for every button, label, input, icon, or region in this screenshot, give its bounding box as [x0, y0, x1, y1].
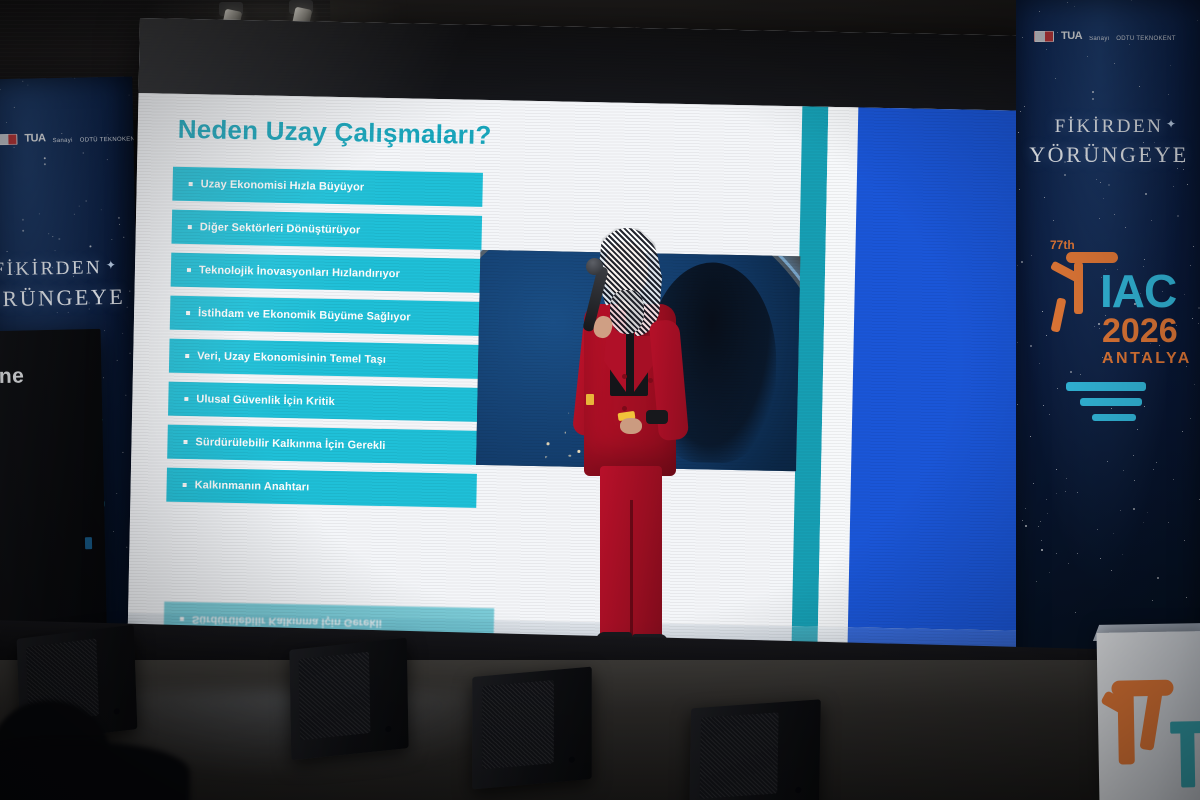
display-pedestal: [1097, 631, 1200, 800]
trouser-seam: [630, 500, 633, 642]
slide-bullet-item: Sürdürülebilir Kalkınma İçin Gerekli: [167, 425, 478, 465]
presenter-headscarf-drape: [610, 290, 644, 334]
podium: one: [0, 329, 107, 661]
slide-bullet-text: Kalkınmanın Anahtarı: [195, 479, 310, 493]
sponsor-logo-row: TUA Sanayi ODTÜ TEKNOKENT: [1034, 30, 1176, 42]
slide-bullet-item: Teknolojik İnovasyonları Hızlandırıyor: [171, 253, 482, 293]
slide-bullet-text: Uzay Ekonomisi Hızla Büyüyor: [201, 178, 365, 193]
slide-bullet-text: Ulusal Güvenlik İçin Kritik: [196, 393, 335, 408]
slide-title: Neden Uzay Çalışmaları?: [177, 114, 491, 151]
stage-scene: TUA Sanayi ODTÜ TEKNOKENT FİKİRDEN YÖRÜN…: [0, 0, 1200, 800]
slide-bullet-text: Diğer Sektörleri Dönüştürüyor: [200, 221, 361, 236]
iac-underline-icon: [1066, 382, 1146, 391]
iac-city-label: ANTALYA: [1102, 352, 1192, 367]
jacket-button: [648, 378, 653, 383]
pedestal-logo-stem-icon: [1180, 731, 1195, 787]
slide-bullet-item: İstihdam ve Ekonomik Büyüme Sağlıyor: [170, 296, 481, 336]
banner-left-tagline-line2: YÖRÜNGEYE: [0, 284, 137, 313]
podium-label: one: [0, 364, 62, 390]
satellite-mast-icon: [1074, 262, 1083, 314]
stage-monitor-speaker: [289, 638, 408, 761]
pedestal-logo-leg-icon: [1139, 689, 1162, 750]
slide-bullet-text: Teknolojik İnovasyonları Hızlandırıyor: [199, 264, 400, 280]
slide-bullet-text: İstihdam ve Ekonomik Büyüme Sağlıyor: [198, 307, 411, 323]
bullet-marker-icon: [188, 225, 192, 229]
odtu-teknokent-logo-icon: ODTÜ TEKNOKENT: [80, 136, 140, 143]
slide-bullet-item: Veri, Uzay Ekonomisinin Temel Taşı: [169, 339, 480, 379]
slide-bullet-item: Uzay Ekonomisi Hızla Büyüyor: [172, 167, 483, 207]
sanayi-logo-icon: Sanayi: [1089, 36, 1109, 42]
slide-bullet-list: Uzay Ekonomisi Hızla BüyüyorDiğer Sektör…: [166, 167, 483, 517]
iac-underline-icon: [1080, 398, 1142, 406]
slide-bullet-text: Sürdürülebilir Kalkınma İçin Gerekli: [195, 436, 385, 452]
iac-underline-icon: [1092, 414, 1136, 421]
podium-indicator-light: [85, 537, 92, 549]
stage-monitor-speaker: [472, 667, 592, 790]
banner-right: TUA Sanayi ODTÜ TEKNOKENT FİKİRDEN YÖRÜN…: [1016, 0, 1200, 690]
banner-right-tagline-line2: YÖRÜNGEYE: [1016, 142, 1200, 168]
sparkle-icon: ✦: [1166, 118, 1178, 130]
bullet-marker-icon: [187, 268, 191, 272]
odtu-teknokent-logo-icon: ODTÜ TEKNOKENT: [1116, 36, 1175, 42]
presenter-badge: [586, 394, 594, 405]
iac-edition-label: 77th: [1050, 240, 1075, 251]
turkish-flag-icon: [1034, 31, 1054, 42]
satellite-glyph-icon: [1066, 252, 1118, 263]
stage-monitor-speaker: [689, 699, 821, 800]
iac-name-label: IAC: [1100, 270, 1176, 312]
iac-year-label: 2026: [1102, 316, 1178, 347]
jacket-button: [622, 406, 627, 411]
bullet-marker-icon: [183, 483, 187, 487]
bullet-marker-icon: [183, 440, 187, 444]
slide-bullet-item: Diğer Sektörleri Dönüştürüyor: [171, 210, 482, 250]
bullet-marker-icon: [184, 397, 188, 401]
bullet-marker-icon: [185, 354, 189, 358]
turkish-flag-icon: [0, 134, 18, 145]
slide-bullet-item: Kalkınmanın Anahtarı: [166, 468, 477, 508]
audience-silhouette: [0, 742, 190, 800]
sanayi-logo-icon: Sanayi: [53, 138, 73, 144]
tua-logo-icon: TUA: [1061, 30, 1082, 42]
presenter-cuff: [646, 410, 668, 424]
slide-bullet-text: Veri, Uzay Ekonomisinin Temel Taşı: [197, 350, 386, 366]
sparkle-icon: ✦: [106, 259, 118, 271]
jacket-button: [622, 374, 627, 379]
presenter: [560, 228, 710, 678]
bullet-marker-icon: [189, 182, 193, 186]
bullet-marker-icon: [186, 311, 190, 315]
slide-bullet-item: Ulusal Güvenlik İçin Kritik: [168, 382, 479, 422]
slide-accent-block-blue: [848, 107, 1028, 630]
presenter-right-hand: [620, 418, 642, 434]
tua-logo-icon: TUA: [24, 132, 45, 144]
